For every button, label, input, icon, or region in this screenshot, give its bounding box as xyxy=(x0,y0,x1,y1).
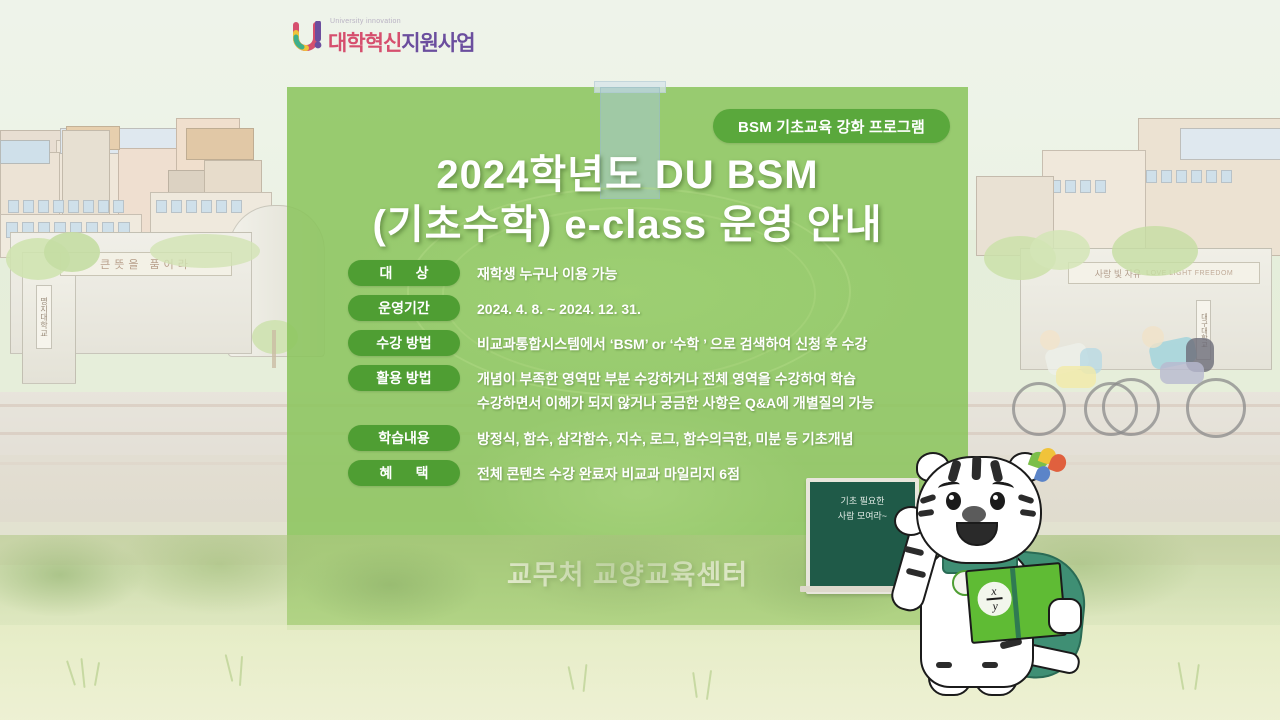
title-line-1: 2024학년도 DU BSM xyxy=(436,153,818,197)
info-label-benefit: 혜 택 xyxy=(348,460,460,486)
info-row-target: 대 상 재학생 누구나 이용 가능 xyxy=(348,260,948,286)
info-label-curriculum: 학습내용 xyxy=(348,425,460,451)
tiger-mascot: x y xyxy=(880,448,1140,720)
info-value-line: 재학생 누구나 이용 가능 xyxy=(477,262,617,286)
info-value-line: 개념이 부족한 영역만 부분 수강하거나 전체 영역을 수강하여 학습 xyxy=(477,367,874,391)
title-line-2: (기초수학) e-class 운영 안내 xyxy=(287,200,968,250)
program-logo: University innovation 대학혁신지원사업 xyxy=(292,18,467,56)
book-fraction-icon: x y xyxy=(976,580,1013,617)
page-title: 2024학년도 DU BSM (기초수학) e-class 운영 안내 xyxy=(287,150,968,250)
info-row-curriculum: 학습내용 방정식, 함수, 삼각함수, 지수, 로그, 함수의극한, 미분 등 … xyxy=(348,425,948,451)
poster-canvas: 큰뜻을 품어라 명지대학교 사랑 빛 자유 LOVE LIGHT FREEDOM… xyxy=(0,0,1280,720)
logo-korean-text: 대학혁신지원사업 xyxy=(328,27,475,57)
info-value-benefit: 전체 콘텐츠 수강 완료자 비교과 마일리지 6점 xyxy=(477,460,740,486)
mascot-nose xyxy=(962,506,986,523)
u-mark-icon xyxy=(292,21,326,53)
logo-korean-part-a: 대학혁신 xyxy=(328,32,401,55)
info-value-line: 2024. 4. 8. ~ 2024. 12. 31. xyxy=(477,297,641,321)
info-value-target: 재학생 누구나 이용 가능 xyxy=(477,260,617,286)
info-row-period: 운영기간 2024. 4. 8. ~ 2024. 12. 31. xyxy=(348,295,948,321)
logo-english-text: University innovation xyxy=(330,18,401,25)
info-value-period: 2024. 4. 8. ~ 2024. 12. 31. xyxy=(477,295,641,321)
info-value-line: 방정식, 함수, 삼각함수, 지수, 로그, 함수의극한, 미분 등 기초개념 xyxy=(477,427,853,451)
program-badge: BSM 기초교육 강화 프로그램 xyxy=(713,109,950,143)
mascot-leg-stripe xyxy=(936,662,952,668)
info-value-line: 수강하면서 이해가 되지 않거나 궁금한 사항은 Q&A에 개별질의 가능 xyxy=(477,391,874,415)
info-value-enrollment-method: 비교과통합시스템에서 ‘BSM’ or ‘수학 ’ 으로 검색하여 신청 후 수… xyxy=(477,330,867,356)
info-row-usage-method: 활용 방법 개념이 부족한 영역만 부분 수강하거나 전체 영역을 수강하여 학… xyxy=(348,365,948,415)
mascot-head-stripe xyxy=(972,456,982,480)
info-row-enrollment-method: 수강 방법 비교과통합시스템에서 ‘BSM’ or ‘수학 ’ 으로 검색하여 … xyxy=(348,330,948,356)
mascot-eye-left xyxy=(946,492,961,510)
info-label-usage-method: 활용 방법 xyxy=(348,365,460,391)
logo-korean-part-b: 지원사업 xyxy=(401,32,474,55)
info-table: 대 상 재학생 누구나 이용 가능 운영기간 2024. 4. 8. ~ 202… xyxy=(348,260,948,495)
book-spine xyxy=(1010,568,1021,638)
mascot-eye-right xyxy=(990,492,1005,510)
info-label-target: 대 상 xyxy=(348,260,460,286)
info-value-curriculum: 방정식, 함수, 삼각함수, 지수, 로그, 함수의극한, 미분 등 기초개념 xyxy=(477,425,853,451)
mascot-leg-stripe xyxy=(982,662,998,668)
info-label-enrollment-method: 수강 방법 xyxy=(348,330,460,356)
mascot-hand-holding-book xyxy=(1048,598,1082,634)
gate-left-plate: 명지대학교 xyxy=(36,285,52,349)
info-label-period: 운영기간 xyxy=(348,295,460,321)
book-denominator: y xyxy=(992,600,998,611)
info-value-line: 전체 콘텐츠 수강 완료자 비교과 마일리지 6점 xyxy=(477,462,740,486)
info-value-usage-method: 개념이 부족한 영역만 부분 수강하거나 전체 영역을 수강하여 학습 수강하면… xyxy=(477,365,874,415)
book-numerator: x xyxy=(991,586,997,597)
info-value-line: 비교과통합시스템에서 ‘BSM’ or ‘수학 ’ 으로 검색하여 신청 후 수… xyxy=(477,332,867,356)
